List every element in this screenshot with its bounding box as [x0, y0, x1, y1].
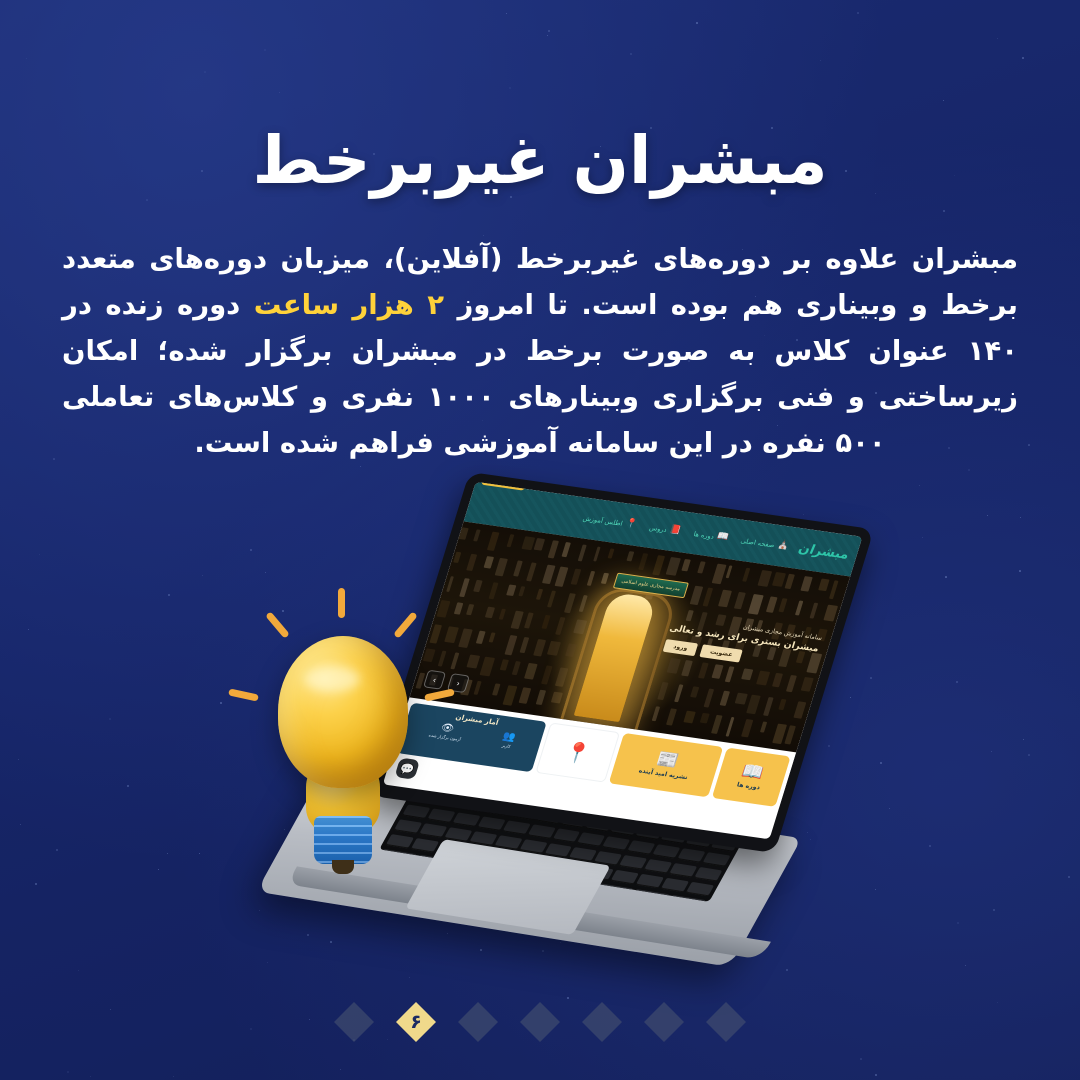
keyboard-key — [502, 820, 530, 834]
bookshelf-book — [690, 586, 704, 605]
bookshelf-book — [492, 683, 501, 695]
bookshelf-book — [499, 609, 506, 620]
bookshelf-book — [829, 580, 839, 599]
bookshelf-book — [793, 701, 806, 719]
bookshelf-book — [541, 615, 550, 629]
site-logo[interactable]: مبشران — [796, 541, 852, 562]
bookshelf-book — [703, 588, 714, 607]
bookshelf-book — [555, 667, 569, 686]
pagination-dot[interactable] — [334, 1002, 374, 1042]
bookshelf-book — [444, 626, 459, 643]
keyboard-key — [686, 882, 714, 896]
stat-users-label: کاربر — [499, 743, 513, 750]
keyboard-key — [669, 863, 697, 877]
card-news[interactable]: 📰 نشریه امید آینده — [609, 733, 724, 797]
signup-button[interactable]: ثبت نام — [481, 482, 528, 491]
bookshelf-book — [718, 590, 732, 608]
keyboard-key — [644, 859, 672, 873]
bookshelf-book — [756, 671, 770, 686]
bookshelf-book — [571, 569, 582, 585]
bookshelf-book — [578, 544, 587, 561]
bookshelf-book — [626, 551, 634, 561]
newspaper-icon: 📰 — [654, 751, 680, 770]
card-courses[interactable]: 📖 دوره ها — [712, 748, 791, 807]
bookshelf-book — [466, 554, 477, 571]
bookshelf-book — [786, 675, 797, 692]
keyboard-key — [619, 855, 647, 869]
bookshelf-book — [711, 715, 723, 734]
hero-membership-button[interactable]: عضویت — [699, 644, 743, 662]
keyboard-key — [452, 812, 480, 826]
bookshelf-book — [536, 690, 546, 705]
bookshelf-book — [760, 721, 767, 732]
users-icon: 👥 — [501, 732, 516, 743]
bulb-ray — [338, 588, 345, 618]
bookshelf-book — [772, 572, 786, 587]
bookshelf-book — [683, 711, 695, 724]
bookshelf-book — [795, 600, 803, 615]
bookshelf-book — [547, 641, 561, 656]
stat-users: 👥 کاربر — [499, 732, 516, 749]
bookshelf-book — [520, 637, 530, 653]
bookshelf-book — [735, 693, 748, 705]
bookshelf-book — [638, 553, 648, 570]
bookshelf-book — [507, 534, 515, 547]
bookshelf-book — [573, 619, 587, 634]
keyboard-key — [477, 816, 505, 830]
bookshelf-book — [657, 682, 668, 700]
browser-viewport: مبشران ⛪ صفحه اصلی 📖 دوره ها 📕 دروس — [383, 482, 863, 840]
bookshelf-book — [725, 666, 735, 682]
pagination-dots: ۶ — [0, 1002, 1080, 1042]
bookshelf-book — [784, 725, 796, 744]
bookshelf-book — [564, 593, 576, 613]
bookshelf-book — [778, 699, 786, 710]
bookshelf-book — [548, 540, 559, 558]
bookshelf-book — [757, 570, 772, 587]
bookshelf-book — [579, 595, 588, 612]
nav-item-home[interactable]: ⛪ صفحه اصلی — [740, 536, 790, 551]
pagination-dot[interactable] — [706, 1002, 746, 1042]
keyboard-key — [552, 828, 580, 842]
bookshelf-book — [489, 582, 499, 599]
keyboard-key — [677, 848, 705, 862]
bookshelf-book — [466, 604, 474, 615]
bookshelf-book — [512, 661, 521, 675]
nav-item-courses[interactable]: 📖 دوره ها — [692, 529, 729, 543]
keyboard-key — [627, 840, 655, 854]
bookshelf-book — [518, 586, 525, 596]
page-title: مبشران غیربرخط — [0, 122, 1080, 199]
keyboard-key — [577, 832, 605, 846]
bookshelf-book — [711, 664, 723, 679]
nav-item-home-label: صفحه اصلی — [740, 536, 776, 549]
bookshelf-book — [810, 603, 819, 619]
bookshelf-book — [484, 556, 495, 569]
keyboard-key — [661, 878, 689, 892]
bookshelf-book — [446, 576, 454, 592]
bookshelf-book — [763, 697, 774, 716]
bulb-screw-base — [314, 816, 372, 864]
location-pin-book-icon: 📍 — [562, 741, 593, 764]
bookshelf-book — [746, 695, 761, 715]
bookshelf-book — [459, 578, 470, 597]
bulb-ray — [265, 611, 290, 638]
bookshelf-book — [524, 612, 534, 628]
bookshelf-book — [652, 555, 665, 575]
pagination-dot[interactable] — [644, 1002, 684, 1042]
bookshelf-book — [697, 561, 706, 573]
paragraph-highlight: ۲ هزار ساعت — [254, 289, 444, 321]
bookshelf-book — [587, 571, 595, 586]
bookshelf-book — [502, 685, 517, 706]
bookshelf-book — [785, 574, 795, 589]
bookshelf-book — [741, 668, 753, 680]
bookshelf-book — [726, 565, 733, 578]
open-book-icon: 📖 — [740, 763, 766, 782]
bookshelf-book — [555, 617, 565, 635]
bookshelf-book — [513, 560, 523, 576]
bookshelf-book — [823, 605, 838, 622]
bookshelf-book — [674, 684, 683, 702]
nav-item-lessons-label: دروس — [648, 523, 668, 533]
bookshelf-book — [506, 584, 516, 596]
bookshelf-book — [466, 655, 480, 669]
bookshelf-book — [524, 663, 538, 680]
bookshelf-book — [536, 589, 543, 600]
bookshelf-book — [458, 628, 473, 648]
bookshelf-book — [720, 691, 730, 706]
bookshelf-book — [519, 687, 532, 704]
nav-item-lessons[interactable]: 📕 دروس — [648, 523, 682, 536]
bookshelf-book — [504, 635, 517, 655]
keyboard-key — [611, 870, 639, 884]
bookshelf-book — [479, 657, 495, 677]
bookshelf-book — [526, 562, 537, 581]
bookshelf-book — [565, 643, 577, 657]
pagination-dot[interactable] — [582, 1002, 622, 1042]
bookshelf-book — [800, 576, 812, 592]
keyboard-key — [694, 867, 722, 881]
hero-login-button[interactable]: ورود — [663, 639, 699, 656]
bookshelf-book — [666, 557, 681, 576]
bookshelf-book — [748, 594, 764, 615]
keyboard-key — [527, 824, 555, 838]
bookshelf-book — [593, 547, 600, 562]
lightbulb-illustration — [246, 588, 446, 878]
bookshelf-book — [704, 689, 715, 708]
bookshelf-book — [453, 552, 461, 563]
body-paragraph: مبشران علاوه بر دوره‌های غیربرخط (آفلاین… — [62, 236, 1018, 466]
keyboard-key — [652, 844, 680, 858]
auth-buttons: ورود ثبت نام — [481, 482, 533, 491]
bookshelf-book — [681, 660, 693, 676]
bookshelf-book — [801, 677, 814, 692]
bookshelf-book — [487, 532, 500, 551]
nav-item-atlas[interactable]: 📍 اطلس آموزش — [582, 513, 638, 529]
bookshelf-book — [473, 580, 483, 592]
bookshelf-book — [454, 602, 464, 614]
bookshelf-book — [500, 659, 509, 670]
keyboard-key — [602, 836, 630, 850]
bookshelf-book — [681, 559, 691, 571]
location-pin-icon: 📍 — [624, 519, 638, 529]
bookshelf-book — [495, 558, 508, 577]
bookshelf-book — [542, 565, 556, 584]
bookshelf-book — [766, 596, 778, 612]
bookshelf-book — [458, 527, 469, 540]
pagination-dot[interactable] — [520, 1002, 560, 1042]
bookshelf-book — [652, 706, 660, 721]
bookshelf-book — [450, 652, 459, 669]
bookshelf-book — [666, 708, 677, 725]
bookshelf-book — [601, 573, 609, 584]
bookshelf-book — [533, 639, 546, 657]
bookshelf-book — [742, 568, 750, 582]
bookshelf-book — [608, 548, 615, 558]
bookshelf-book — [476, 631, 486, 644]
bookshelf-book — [489, 632, 496, 642]
bookshelf-book — [534, 538, 545, 551]
bookshelf-book — [712, 564, 727, 585]
home-icon: ⛪ — [776, 541, 790, 551]
keyboard-key — [636, 874, 664, 888]
bulb-contact-tip — [332, 860, 354, 874]
bookshelf-book — [561, 542, 570, 557]
bookshelf-book — [511, 611, 524, 630]
open-book-icon: 📖 — [716, 532, 730, 542]
bookshelf-book — [690, 686, 699, 697]
book-icon: 📕 — [668, 526, 682, 536]
bookshelf-book — [700, 713, 710, 724]
bookshelf-book — [734, 592, 746, 609]
bookshelf-book — [541, 665, 553, 684]
bookshelf-book — [473, 529, 481, 541]
bookshelf-book — [818, 578, 829, 591]
pagination-dot[interactable] — [458, 1002, 498, 1042]
bookshelf-book — [726, 717, 735, 737]
bulb-glass — [278, 636, 408, 788]
bookshelf-book — [474, 681, 482, 695]
bookshelf-book — [772, 673, 783, 688]
bulb-ray — [228, 688, 259, 701]
slide-canvas: مبشران غیربرخط مبشران علاوه بر دوره‌های … — [0, 0, 1080, 1080]
bookshelf-book — [485, 607, 495, 619]
bookshelf-book — [741, 719, 753, 737]
bookshelf-book — [551, 692, 563, 704]
bulb-highlight — [304, 666, 360, 692]
bookshelf-book — [778, 598, 787, 612]
pagination-dot-active[interactable]: ۶ — [396, 1002, 436, 1042]
bookshelf-book — [555, 566, 569, 586]
bulb-ray — [393, 611, 418, 638]
nav-item-atlas-label: اطلس آموزش — [582, 514, 624, 527]
card-atlas[interactable]: 📍 — [535, 722, 620, 782]
bookshelf-book — [547, 591, 556, 608]
bookshelf-book — [698, 662, 709, 678]
nav-item-courses-label: دوره ها — [693, 530, 716, 541]
bookshelf-book — [667, 658, 681, 674]
keyboard-key — [702, 852, 730, 866]
